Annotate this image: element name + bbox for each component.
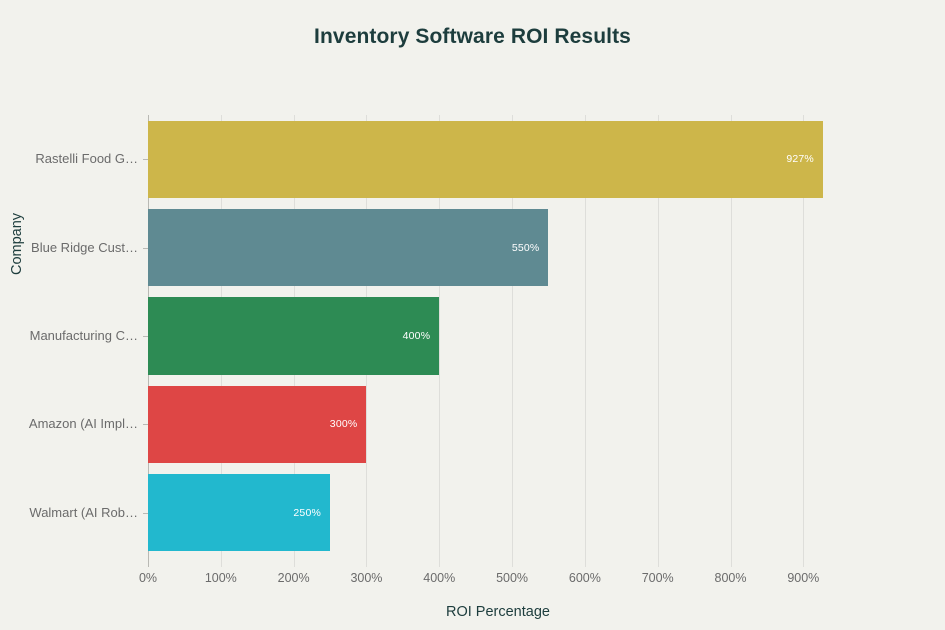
x-axis-tick-label: 300% xyxy=(331,571,401,585)
bar-value-label: 250% xyxy=(293,507,330,519)
y-axis-tick-label: Rastelli Food G… xyxy=(0,150,138,168)
bar[interactable]: 400% xyxy=(148,297,439,374)
bar[interactable]: 250% xyxy=(148,474,330,551)
y-axis-tick-mark xyxy=(143,248,148,249)
x-axis-tick-label: 400% xyxy=(404,571,474,585)
bar-row: 300% xyxy=(148,386,847,463)
x-axis-title: ROI Percentage xyxy=(148,604,848,620)
bar-value-label: 927% xyxy=(786,153,823,165)
bar-row: 927% xyxy=(148,121,847,198)
y-axis-tick-text: Manufacturing C… xyxy=(30,328,138,343)
x-axis-tick-label: 200% xyxy=(259,571,329,585)
x-axis-tick-label: 600% xyxy=(550,571,620,585)
bar-value-label: 300% xyxy=(330,418,367,430)
bar[interactable]: 300% xyxy=(148,386,366,463)
y-axis-tick-text: Rastelli Food G… xyxy=(35,151,138,166)
y-axis-tick-label: Walmart (AI Rob… xyxy=(0,504,138,522)
chart-container: Inventory Software ROI Results Company R… xyxy=(0,0,945,630)
y-axis-tick-text: Blue Ridge Cust… xyxy=(31,240,138,255)
x-axis-tick-label: 0% xyxy=(113,571,183,585)
plot-area: 927%550%400%300%250% xyxy=(148,115,847,557)
bar[interactable]: 550% xyxy=(148,209,548,286)
x-axis-tick-label: 900% xyxy=(768,571,838,585)
x-axis-tick-label: 500% xyxy=(477,571,547,585)
y-axis-tick-mark xyxy=(143,424,148,425)
bar-row: 250% xyxy=(148,474,847,551)
y-axis-tick-text: Amazon (AI Impl… xyxy=(29,416,138,431)
x-axis-tick-label: 100% xyxy=(186,571,256,585)
x-axis-tick-label: 800% xyxy=(696,571,766,585)
x-axis-tick-label: 700% xyxy=(623,571,693,585)
x-axis-tick-mark xyxy=(148,557,149,563)
bar[interactable]: 927% xyxy=(148,121,823,198)
page-title: Inventory Software ROI Results xyxy=(0,25,945,49)
y-axis-tick-mark xyxy=(143,159,148,160)
y-axis-tick-text: Walmart (AI Rob… xyxy=(29,505,138,520)
bar-row: 550% xyxy=(148,209,847,286)
y-axis-tick-label: Manufacturing C… xyxy=(0,327,138,345)
y-axis-tick-label: Amazon (AI Impl… xyxy=(0,415,138,433)
y-axis-tick-label: Blue Ridge Cust… xyxy=(0,239,138,257)
bar-value-label: 400% xyxy=(403,330,440,342)
y-axis-tick-mark xyxy=(143,513,148,514)
bar-value-label: 550% xyxy=(512,242,549,254)
bar-row: 400% xyxy=(148,297,847,374)
y-axis-tick-mark xyxy=(143,336,148,337)
